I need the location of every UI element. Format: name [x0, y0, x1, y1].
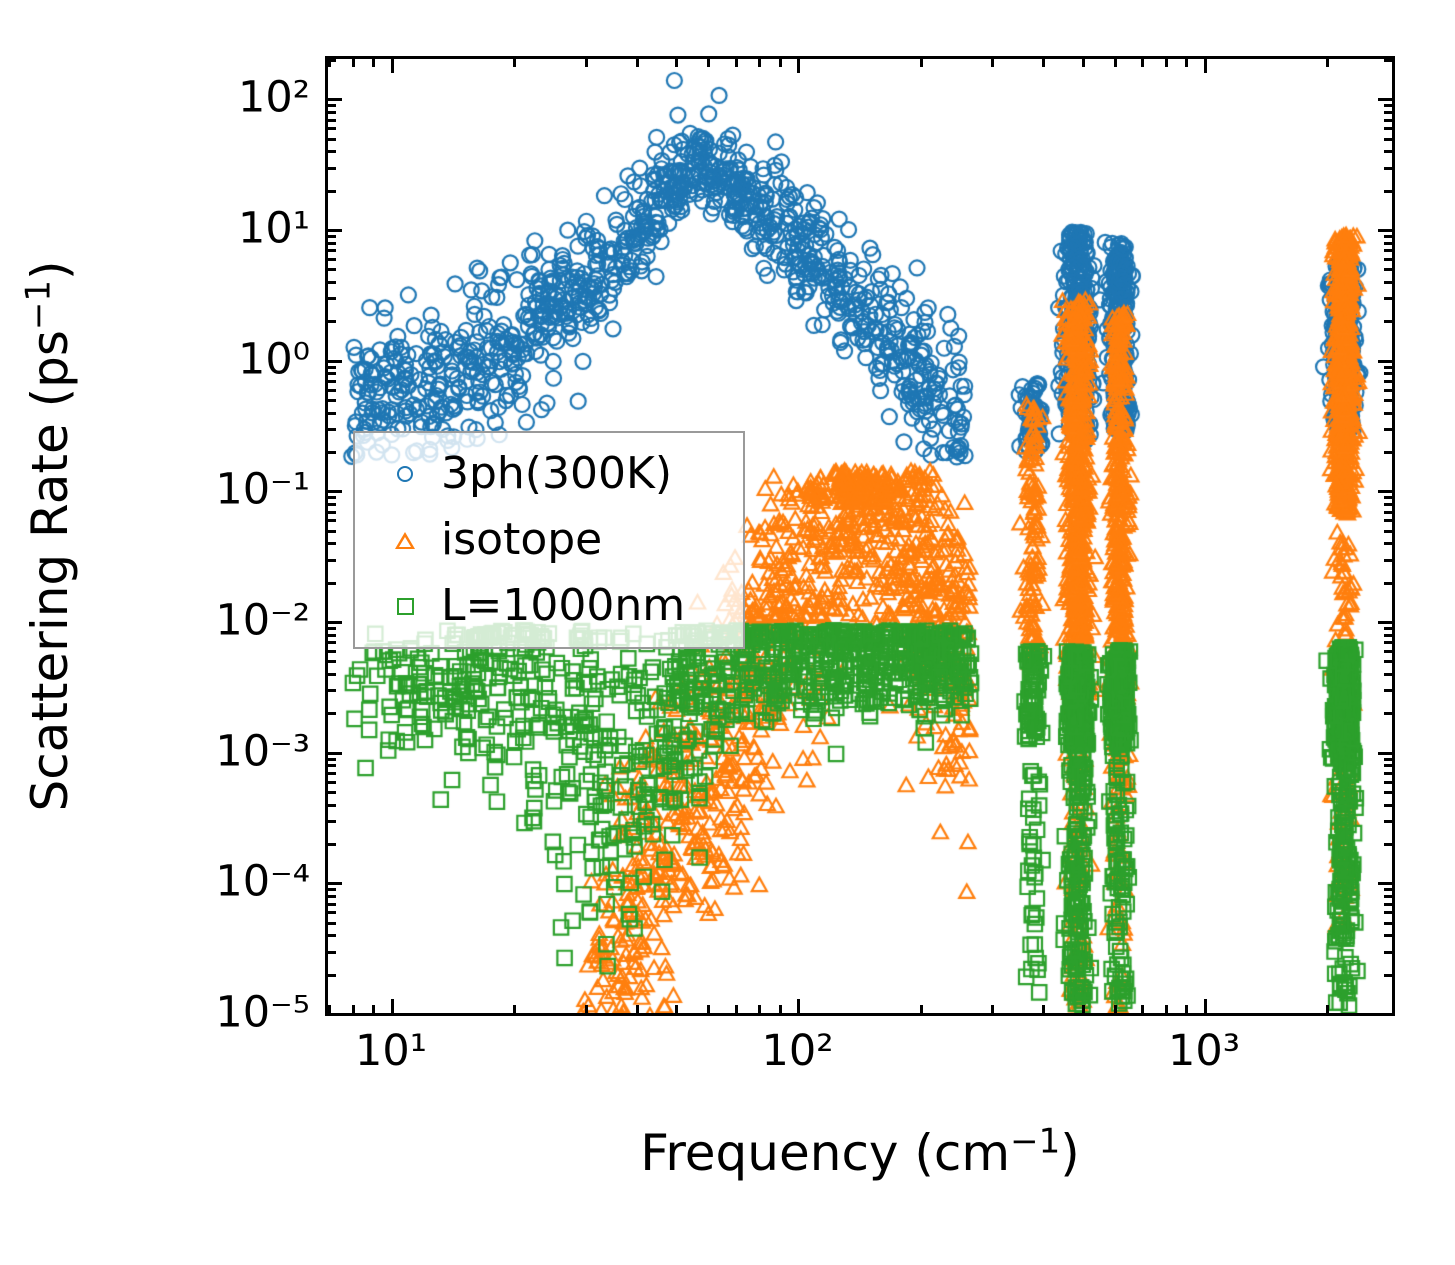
axis-tick	[1384, 758, 1392, 761]
axis-tick	[328, 781, 336, 784]
legend-label-isotope: isotope	[441, 518, 602, 562]
axis-tick	[585, 1005, 588, 1013]
axis-tick	[1384, 412, 1392, 415]
axis-tick	[1384, 772, 1392, 775]
axis-tick	[328, 922, 336, 925]
x-axis-label: Frequency (cm−1)	[325, 1124, 1395, 1182]
axis-tick	[328, 281, 336, 284]
axis-tick	[328, 882, 342, 885]
axis-tick	[1384, 399, 1392, 402]
axis-tick	[328, 843, 336, 846]
axis-tick	[1384, 641, 1392, 644]
axis-tick	[1378, 752, 1392, 755]
axis-tick	[328, 119, 336, 122]
y-tick-label: 10⁰	[0, 338, 310, 381]
axis-tick	[1384, 922, 1392, 925]
plot-area: 3ph(300K) isotope L=1000nm	[325, 56, 1395, 1016]
axis-tick	[1204, 999, 1207, 1013]
axis-tick	[735, 59, 738, 67]
axis-tick	[1378, 621, 1392, 624]
axis-tick	[1384, 673, 1392, 676]
axis-tick	[1384, 150, 1392, 153]
axis-tick	[1384, 138, 1392, 141]
axis-tick	[372, 59, 375, 67]
axis-tick	[779, 1005, 782, 1013]
axis-tick	[513, 59, 516, 67]
axis-tick	[991, 1005, 994, 1013]
axis-tick	[1326, 59, 1329, 67]
axis-tick	[328, 758, 336, 761]
axis-tick	[1185, 1005, 1188, 1013]
axis-tick	[328, 111, 336, 114]
axis-tick	[1384, 281, 1392, 284]
axis-tick	[328, 903, 336, 906]
legend-label-boundary: L=1000nm	[441, 584, 685, 628]
axis-tick	[328, 389, 336, 392]
axis-tick	[328, 888, 336, 891]
axis-tick	[328, 791, 336, 794]
axis-tick	[1384, 519, 1392, 522]
axis-tick	[1384, 712, 1392, 715]
axis-tick	[1384, 127, 1392, 130]
axis-tick	[328, 249, 336, 252]
axis-tick	[1384, 366, 1392, 369]
legend-item-isotope: isotope	[355, 507, 743, 573]
axis-tick	[328, 673, 336, 676]
axis-tick	[328, 98, 342, 101]
axis-tick	[1384, 934, 1392, 937]
axis-tick	[1384, 559, 1392, 562]
axis-tick	[1384, 242, 1392, 245]
axis-tick	[328, 911, 336, 914]
axis-tick	[328, 127, 336, 130]
axis-tick	[328, 1005, 331, 1013]
axis-tick	[328, 934, 336, 937]
axis-tick	[1384, 888, 1392, 891]
axis-tick	[1165, 59, 1168, 67]
axis-tick	[328, 712, 336, 715]
axis-tick	[328, 764, 336, 767]
y-tick-label: 10⁻⁵	[0, 992, 310, 1035]
axis-tick	[328, 380, 336, 383]
axis-tick	[1384, 167, 1392, 170]
y-tick-label: 10²	[0, 77, 310, 120]
axis-tick	[391, 59, 394, 73]
circle-marker-icon	[369, 466, 441, 482]
axis-tick	[328, 660, 336, 663]
axis-tick	[328, 428, 336, 431]
axis-tick	[1141, 59, 1144, 67]
axis-tick	[1384, 903, 1392, 906]
axis-tick	[920, 1005, 923, 1013]
axis-tick	[328, 104, 336, 107]
axis-tick	[1378, 490, 1392, 493]
axis-tick	[328, 542, 336, 545]
axis-tick	[328, 167, 336, 170]
scatter-plot-figure: Scattering Rate (ps−1) 10²10¹10⁰10⁻¹10⁻²…	[0, 0, 1455, 1265]
axis-tick	[372, 1005, 375, 1013]
axis-tick	[675, 59, 678, 67]
axis-tick	[328, 641, 336, 644]
axis-tick	[1384, 542, 1392, 545]
axis-tick	[1082, 59, 1085, 67]
axis-tick	[328, 895, 336, 898]
axis-tick	[328, 229, 342, 232]
axis-tick	[1384, 428, 1392, 431]
axis-tick	[1384, 781, 1392, 784]
axis-tick	[1384, 582, 1392, 585]
axis-tick	[1378, 229, 1392, 232]
axis-tick	[1384, 660, 1392, 663]
axis-tick	[1384, 235, 1392, 238]
axis-tick	[328, 511, 336, 514]
axis-tick	[1378, 98, 1392, 101]
axis-tick	[328, 804, 336, 807]
axis-tick	[1204, 59, 1207, 73]
axis-tick	[1384, 258, 1392, 261]
axis-tick	[1378, 1013, 1392, 1016]
axis-tick	[1384, 634, 1392, 637]
axis-tick	[352, 1005, 355, 1013]
axis-tick	[1384, 951, 1392, 954]
axis-tick	[1384, 451, 1392, 454]
axis-tick	[1384, 804, 1392, 807]
axis-tick	[391, 999, 394, 1013]
axis-tick	[1384, 59, 1392, 62]
y-tick-label: 10⁻³	[0, 730, 310, 773]
axis-tick	[328, 650, 336, 653]
axis-tick	[328, 242, 336, 245]
axis-tick	[920, 59, 923, 67]
axis-tick	[328, 496, 336, 499]
axis-tick	[328, 258, 336, 261]
y-tick-label: 10¹	[0, 208, 310, 251]
axis-tick	[328, 138, 336, 141]
axis-tick	[328, 559, 336, 562]
axis-tick	[328, 530, 336, 533]
axis-tick	[328, 752, 342, 755]
axis-tick	[1384, 320, 1392, 323]
axis-tick	[1082, 1005, 1085, 1013]
axis-tick	[1378, 360, 1392, 363]
axis-tick	[1185, 59, 1188, 67]
axis-tick	[1384, 380, 1392, 383]
axis-tick	[1042, 59, 1045, 67]
axis-tick	[328, 372, 336, 375]
axis-tick	[328, 772, 336, 775]
axis-tick	[1114, 1005, 1117, 1013]
axis-tick	[1384, 503, 1392, 506]
axis-tick	[758, 1005, 761, 1013]
axis-tick	[1042, 1005, 1045, 1013]
axis-tick	[328, 503, 336, 506]
x-tick-label: 10³	[1168, 1030, 1240, 1073]
axis-tick	[328, 974, 336, 977]
axis-tick	[797, 999, 800, 1013]
axis-tick	[1378, 882, 1392, 885]
axis-tick	[328, 582, 336, 585]
axis-tick	[797, 59, 800, 73]
axis-tick	[328, 490, 342, 493]
axis-tick	[1384, 268, 1392, 271]
axis-tick	[328, 820, 336, 823]
axis-tick	[636, 59, 639, 67]
axis-tick	[1384, 496, 1392, 499]
axis-tick	[1384, 119, 1392, 122]
y-tick-label: 10⁻¹	[0, 469, 310, 512]
axis-tick	[1384, 372, 1392, 375]
axis-tick	[1141, 1005, 1144, 1013]
y-tick-label: 10⁻⁴	[0, 861, 310, 904]
axis-tick	[585, 59, 588, 67]
axis-tick	[1384, 791, 1392, 794]
axis-tick	[328, 627, 336, 630]
axis-tick	[1326, 1005, 1329, 1013]
axis-tick	[328, 399, 336, 402]
axis-tick	[1384, 820, 1392, 823]
axis-tick	[636, 1005, 639, 1013]
axis-tick	[328, 412, 336, 415]
axis-tick	[328, 190, 336, 193]
axis-tick	[328, 150, 336, 153]
axis-tick	[328, 297, 336, 300]
axis-tick	[328, 951, 336, 954]
square-marker-icon	[369, 598, 441, 615]
axis-tick	[328, 689, 336, 692]
axis-tick	[1384, 764, 1392, 767]
axis-tick	[1384, 104, 1392, 107]
axis-tick	[328, 451, 336, 454]
triangle-marker-icon	[369, 532, 441, 549]
axis-tick	[352, 59, 355, 67]
axis-tick	[328, 1013, 342, 1016]
legend: 3ph(300K) isotope L=1000nm	[353, 431, 745, 649]
axis-tick	[1114, 59, 1117, 67]
axis-tick	[735, 1005, 738, 1013]
axis-tick	[1384, 111, 1392, 114]
axis-tick	[328, 519, 336, 522]
axis-tick	[328, 320, 336, 323]
axis-tick	[1384, 249, 1392, 252]
axis-tick	[707, 59, 710, 67]
axis-tick	[328, 634, 336, 637]
legend-item-boundary: L=1000nm	[355, 573, 743, 639]
axis-tick	[1384, 689, 1392, 692]
x-tick-label: 10¹	[355, 1030, 427, 1073]
axis-tick	[1384, 511, 1392, 514]
axis-tick	[513, 1005, 516, 1013]
axis-tick	[1384, 530, 1392, 533]
axis-tick	[328, 268, 336, 271]
axis-tick	[1384, 911, 1392, 914]
axis-tick	[328, 59, 336, 62]
axis-tick	[1384, 297, 1392, 300]
axis-tick	[1165, 1005, 1168, 1013]
axis-tick	[707, 1005, 710, 1013]
legend-item-3ph: 3ph(300K)	[355, 441, 743, 507]
axis-tick	[675, 1005, 678, 1013]
y-tick-label: 10⁻²	[0, 600, 310, 643]
axis-tick	[1384, 650, 1392, 653]
axis-tick	[758, 59, 761, 67]
axis-tick	[328, 366, 336, 369]
axis-tick	[1384, 895, 1392, 898]
axis-tick	[779, 59, 782, 67]
legend-label-3ph: 3ph(300K)	[441, 452, 672, 496]
axis-tick	[1384, 190, 1392, 193]
axis-tick	[1384, 974, 1392, 977]
axis-tick	[1384, 843, 1392, 846]
axis-tick	[1384, 627, 1392, 630]
axis-tick	[328, 621, 342, 624]
x-tick-label: 10²	[762, 1030, 834, 1073]
axis-tick	[328, 235, 336, 238]
axis-tick	[1384, 389, 1392, 392]
axis-tick	[991, 59, 994, 67]
axis-tick	[328, 360, 342, 363]
